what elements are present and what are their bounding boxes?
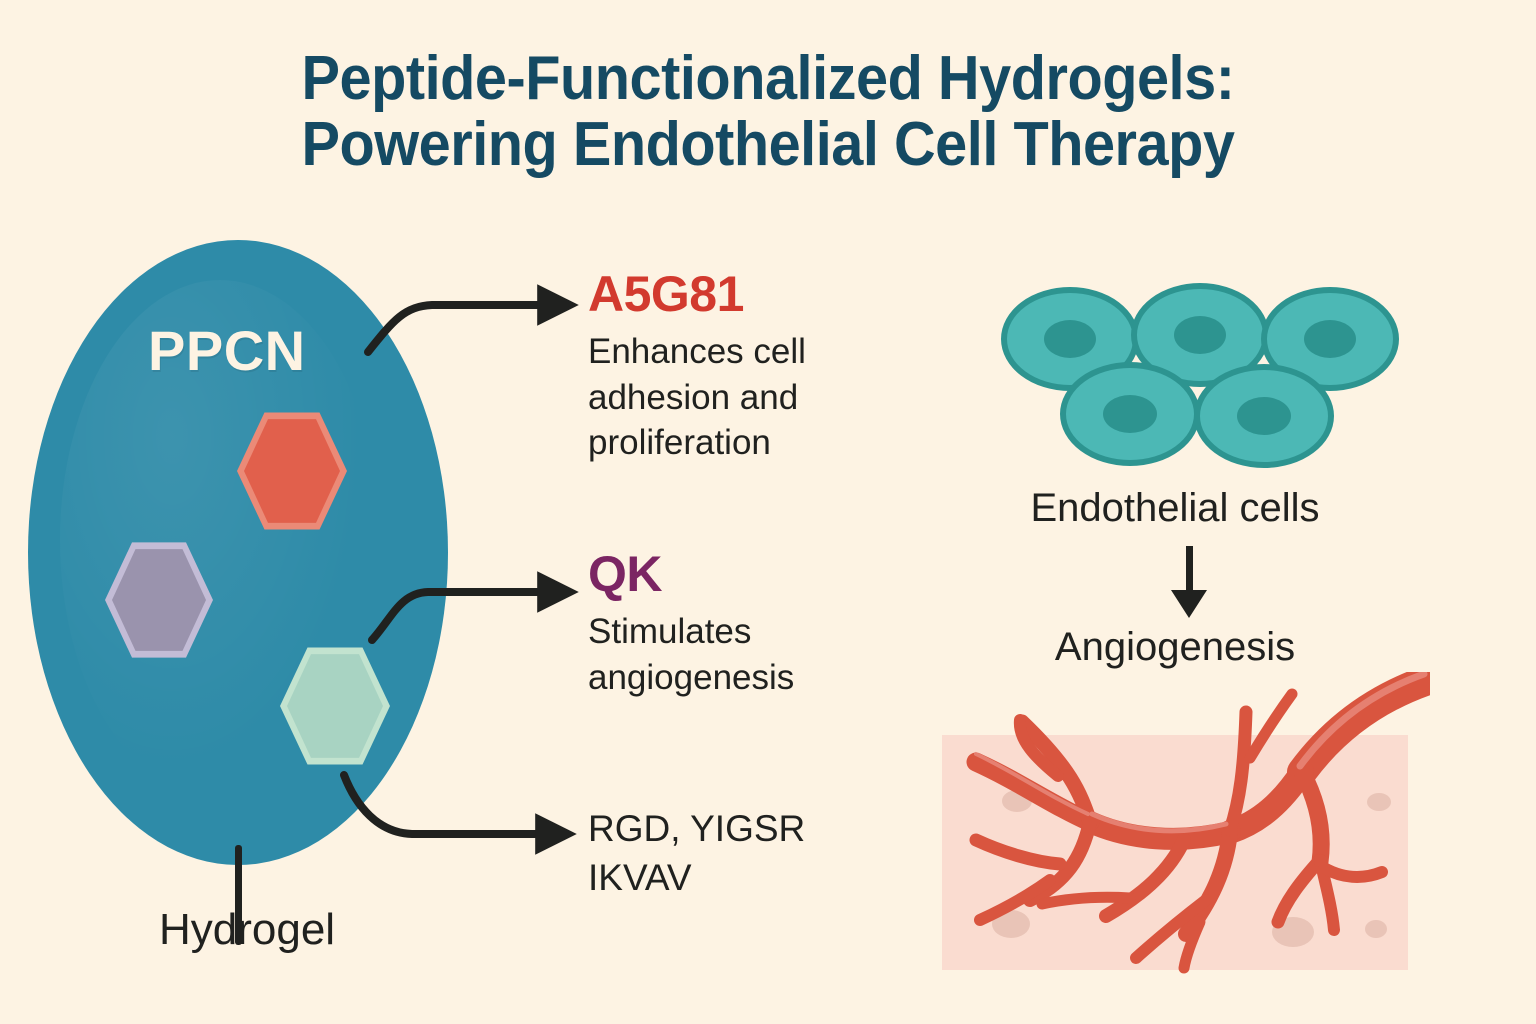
rgd-desc-line-1: RGD, YIGSR — [588, 808, 805, 849]
endothelial-cell — [1194, 364, 1334, 468]
a5g81-desc-line-2: adhesion and — [588, 378, 798, 417]
a5g81-desc-line-3: proliferation — [588, 423, 771, 462]
tissue-spot — [1367, 793, 1391, 811]
angiogenesis-label: Angiogenesis — [965, 625, 1385, 670]
ppcn-label: PPCN — [148, 318, 306, 383]
page-title: Peptide-Functionalized Hydrogels: Poweri… — [0, 46, 1536, 177]
peptide-description-qk: Stimulates angiogenesis — [588, 609, 794, 700]
cell-nucleus — [1103, 395, 1157, 433]
endothelial-cell — [1060, 362, 1200, 466]
title-line-1: Peptide-Functionalized Hydrogels: — [54, 46, 1482, 112]
peptide-name-a5g81: A5G81 — [588, 265, 806, 323]
a5g81-desc-line-1: Enhances cell — [588, 332, 806, 371]
qk-desc-line-2: angiogenesis — [588, 658, 794, 697]
peptide-description-a5g81: Enhances cell adhesion and proliferation — [588, 329, 806, 466]
cell-nucleus — [1237, 397, 1291, 435]
peptide-block-a5g81: A5G81 Enhances cell adhesion and prolife… — [588, 265, 806, 466]
purple-hexagon-inner — [112, 547, 206, 653]
qk-desc-line-1: Stimulates — [588, 612, 751, 651]
tissue-spot — [992, 910, 1030, 938]
peptide-name-qk: QK — [588, 545, 794, 603]
cell-nucleus — [1174, 316, 1226, 354]
red-hexagon-inner — [244, 417, 340, 525]
peptide-block-qk: QK Stimulates angiogenesis — [588, 545, 794, 700]
tissue-spot — [1365, 920, 1387, 938]
tissue-panel — [942, 735, 1408, 970]
title-line-2: Powering Endothelial Cell Therapy — [54, 112, 1482, 178]
cell-nucleus — [1044, 320, 1096, 358]
peptide-description-rgd: RGD, YIGSR IKVAV — [588, 805, 805, 903]
flow-arrow-head-icon — [1171, 590, 1207, 618]
peptide-block-rgd: RGD, YIGSR IKVAV — [588, 805, 805, 903]
infographic-canvas: Peptide-Functionalized Hydrogels: Poweri… — [0, 0, 1536, 1024]
tissue-spot — [1002, 790, 1032, 812]
rgd-desc-line-2: IKVAV — [588, 857, 692, 898]
endothelial-cells-label: Endothelial cells — [965, 486, 1385, 531]
hydrogel-caption: Hydrogel — [159, 905, 335, 955]
tissue-spot — [1272, 917, 1314, 947]
cell-nucleus — [1304, 320, 1356, 358]
green-hexagon-inner — [287, 652, 383, 760]
